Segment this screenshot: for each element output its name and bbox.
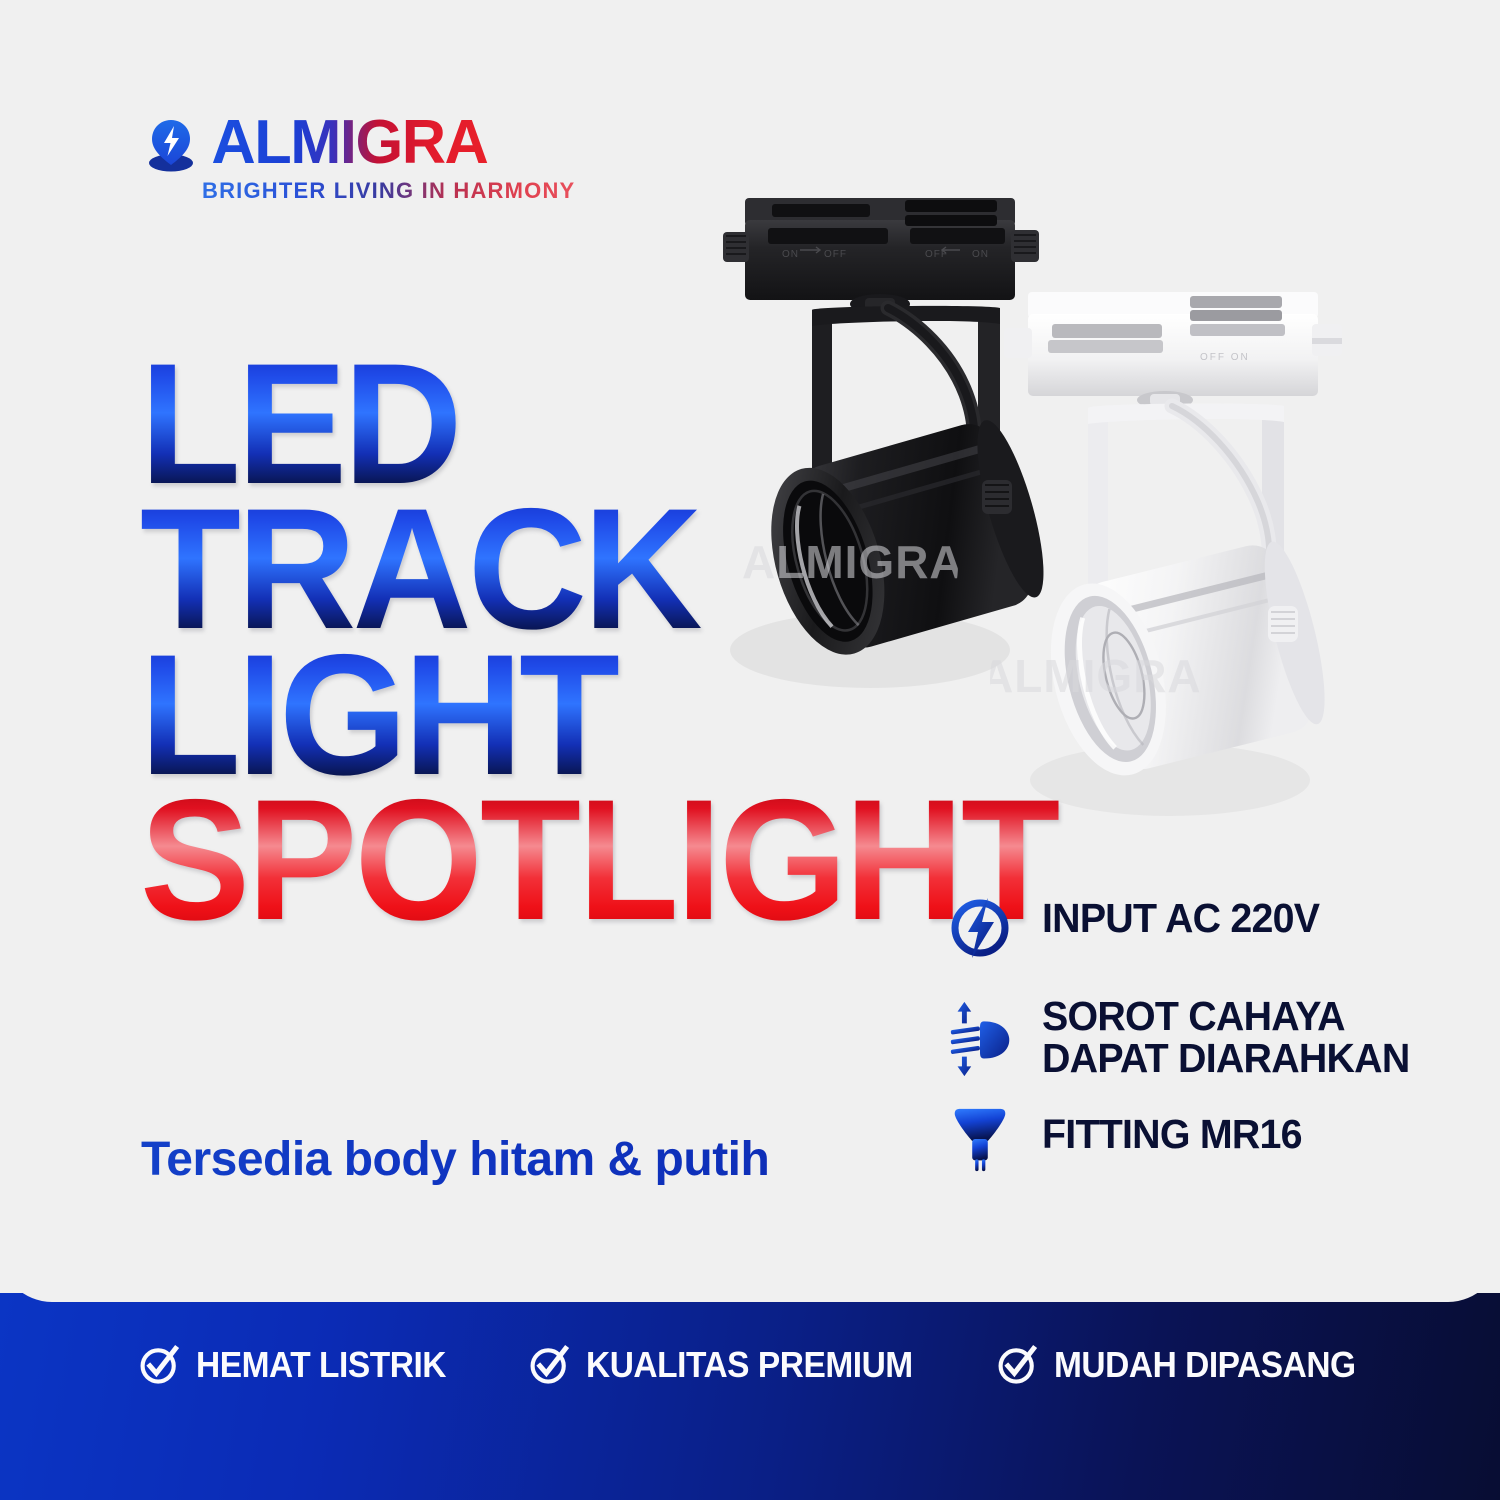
feature-label: INPUT AC 220V [1042,896,1319,940]
feature-list: INPUT AC 220V [948,896,1428,1192]
adjustable-beam-icon [948,994,1012,1076]
feature-label: FITTING MR16 [1042,1104,1302,1156]
badge-item: KUALITAS PREMIUM [528,1343,996,1387]
brand-logo: ALMIGRA BRIGHTER LIVING IN HARMONY [140,112,575,204]
bolt-circle-icon [948,896,1012,960]
check-circle-icon [138,1343,182,1387]
pin-bolt-icon [140,112,202,174]
feature-label: SOROT CAHAYA DAPAT DIARAHKAN [1042,994,1413,1080]
headline-line-4: SPOTLIGHT [140,788,1059,933]
logo-tagline: BRIGHTER LIVING IN HARMONY [202,178,575,204]
check-circle-icon [996,1343,1040,1387]
badge-label: KUALITAS PREMIUM [586,1344,913,1386]
logo-wordmark: ALMIGRA [211,114,487,173]
feature-item: INPUT AC 220V [948,896,1428,960]
badge-label: HEMAT LISTRIK [196,1344,446,1386]
bottom-benefits-bar: HEMAT LISTRIK KUALITAS PREMIUM [0,1293,1500,1500]
svg-text:OFF ON: OFF ON [1200,352,1250,363]
feature-item: FITTING MR16 [948,1104,1428,1174]
badge-item: MUDAH DIPASANG [996,1343,1378,1387]
page-title: LED TRACK LIGHT SPOTLIGHT [140,352,1097,933]
content-panel: ALMIGRA BRIGHTER LIVING IN HARMONY [0,0,1500,1302]
subtitle: Tersedia body hitam & putih [141,1132,769,1187]
badge-list: HEMAT LISTRIK KUALITAS PREMIUM [0,1343,1500,1387]
poster-canvas: HEMAT LISTRIK KUALITAS PREMIUM [0,0,1500,1500]
badge-item: HEMAT LISTRIK [138,1343,528,1387]
check-circle-icon [528,1343,572,1387]
svg-text:ON: ON [972,249,989,260]
logo-row: ALMIGRA [140,112,575,174]
svg-text:ON: ON [782,249,799,260]
mr16-bulb-icon [948,1104,1012,1174]
badge-label: MUDAH DIPASANG [1054,1344,1356,1386]
feature-item: SOROT CAHAYA DAPAT DIARAHKAN [948,994,1428,1080]
svg-text:OFF: OFF [824,249,847,260]
